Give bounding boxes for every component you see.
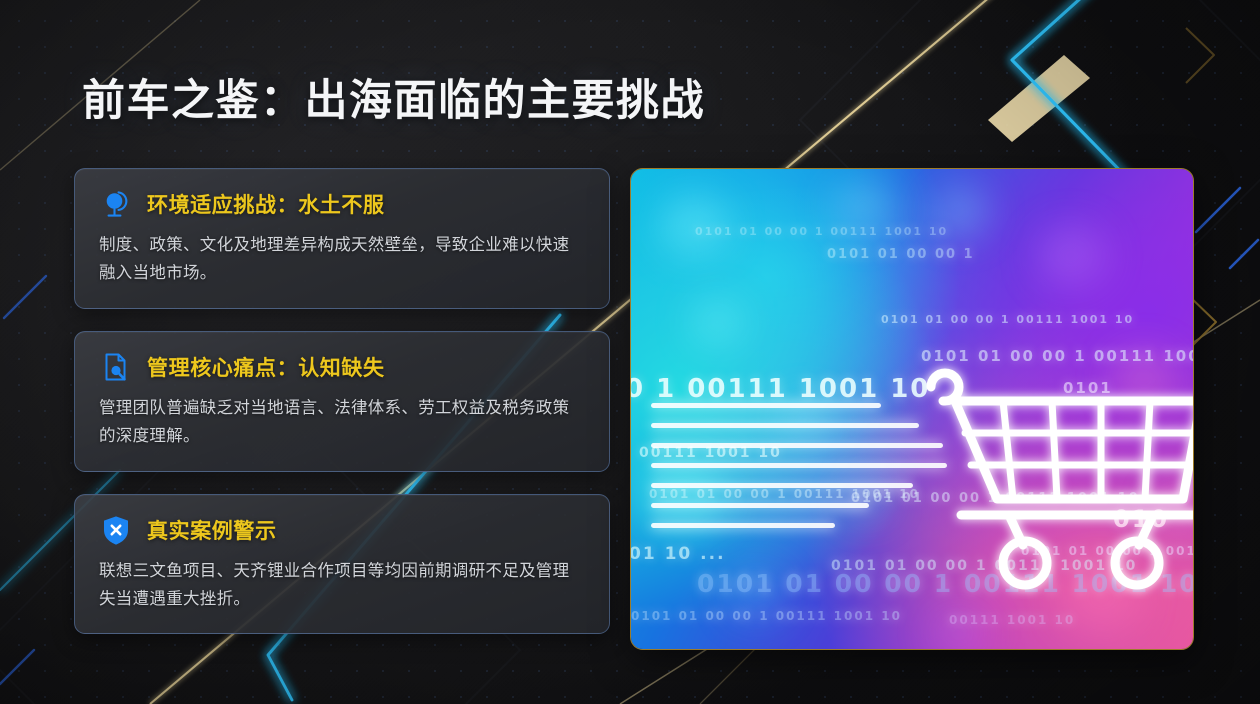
document-search-icon: [99, 350, 133, 384]
card-body-text: 联想三文鱼项目、天齐锂业合作项目等均因前期调研不足及管理失当遭遇重大挫折。: [99, 557, 577, 614]
shield-x-icon: [99, 513, 133, 547]
card-title: 环境适应挑战：水土不服: [147, 189, 385, 219]
card-title: 真实案例警示: [147, 515, 277, 545]
card-title: 管理核心痛点：认知缺失: [147, 352, 385, 382]
hero-image-content: 0 1 00111 1001 10 0101 01 00 00 1 00111 …: [631, 169, 1193, 649]
page-title: 前车之鉴：出海面临的主要挑战: [82, 66, 705, 128]
blue-dash-accents-left: [0, 276, 46, 684]
challenge-card-list: 环境适应挑战：水土不服 制度、政策、文化及地理差异构成天然壁垒，导致企业难以快速…: [74, 168, 610, 634]
card-header: 环境适应挑战：水土不服: [99, 187, 585, 221]
hero-image: 0 1 00111 1001 10 0101 01 00 00 1 00111 …: [630, 168, 1194, 650]
globe-icon: [99, 187, 133, 221]
challenge-card-case-warning[interactable]: 真实案例警示 联想三文鱼项目、天齐锂业合作项目等均因前期调研不足及管理失当遭遇重…: [74, 494, 610, 635]
card-header: 管理核心痛点：认知缺失: [99, 350, 585, 384]
challenge-card-management[interactable]: 管理核心痛点：认知缺失 管理团队普遍缺乏对当地语言、法律体系、劳工权益及税务政策…: [74, 331, 610, 472]
blue-dash-accents: [1196, 188, 1258, 268]
card-header: 真实案例警示: [99, 513, 585, 547]
card-body-text: 管理团队普遍缺乏对当地语言、法律体系、劳工权益及税务政策的深度理解。: [99, 394, 577, 451]
challenge-card-environment[interactable]: 环境适应挑战：水土不服 制度、政策、文化及地理差异构成天然壁垒，导致企业难以快速…: [74, 168, 610, 309]
image-gloss: [631, 169, 1193, 649]
card-body-text: 制度、政策、文化及地理差异构成天然壁垒，导致企业难以快速融入当地市场。: [99, 231, 577, 288]
slide-root: 前车之鉴：出海面临的主要挑战 环境适应挑战：水土不服 制度、政策、文化及地理差异…: [0, 0, 1260, 704]
